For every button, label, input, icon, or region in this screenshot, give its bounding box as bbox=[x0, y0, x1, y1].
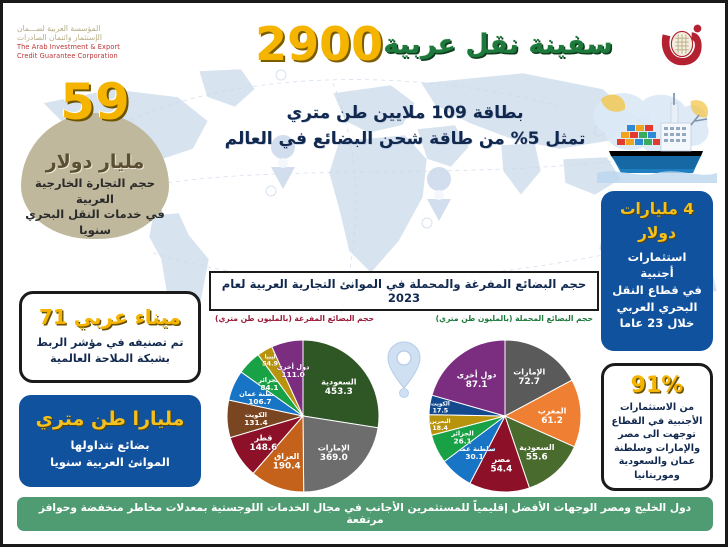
corporate-logo: المؤسسة العربية لضـــمان الإستثمار وائتم… bbox=[17, 25, 167, 60]
card-ports-desc-2: بشبكة الملاحة العالمية bbox=[22, 351, 198, 367]
chart-panel: حجم البضائع المفرغة والمحملة في الموانئ … bbox=[209, 271, 599, 493]
svg-text:111.0: 111.0 bbox=[281, 370, 304, 379]
card-fdi-desc-4: البحري العربي bbox=[607, 299, 707, 316]
svg-text:الإمارات: الإمارات bbox=[318, 444, 350, 453]
headline-subline: بطاقة 109 ملايين طن متري تمثل 5% من طاقة… bbox=[205, 101, 605, 152]
card-pct-desc-6: وموريتانيا bbox=[609, 469, 705, 483]
infographic-root: المؤسسة العربية لضـــمان الإستثمار وائتم… bbox=[0, 0, 728, 547]
card-investment-share: 91% من الاستثمارات الأجنبية في القطاع تو… bbox=[601, 363, 713, 491]
corp-name-ar-2: الإستثمار وائتمان الصادرات bbox=[17, 34, 167, 43]
card-fdi-title-2: دولار bbox=[607, 224, 707, 243]
corp-name-en-1: The Arab Investment & Export bbox=[17, 44, 167, 52]
card-pct-title: 91% bbox=[609, 373, 705, 398]
svg-text:61.2: 61.2 bbox=[541, 416, 563, 426]
pie-chart-discharged: الإمارات72.7المغرب61.2السعودية55.6مصر54.… bbox=[415, 326, 595, 504]
pie-slice-label: البحرين18.4 bbox=[430, 419, 451, 432]
container-ship-icon bbox=[591, 85, 721, 193]
svg-text:السعودية: السعودية bbox=[321, 377, 357, 386]
svg-text:190.4: 190.4 bbox=[273, 462, 301, 472]
corp-name-en-2: Credit Guarantee Corporation bbox=[17, 53, 167, 61]
chart-subtitle-loaded: حجم البضائع المحملة (بالمليون طن متري) bbox=[436, 314, 593, 323]
card-ports-desc-1: تم تصنيفه في مؤشر الربط bbox=[22, 335, 198, 351]
svg-text:دول أخرى: دول أخرى bbox=[457, 369, 497, 379]
pie-charts-area: السعودية453.3الإمارات369.0العراق190.4قطر… bbox=[209, 324, 599, 506]
card-tons-desc-2: الموانئ العربية سنويا bbox=[19, 454, 201, 471]
svg-text:26.1: 26.1 bbox=[453, 437, 471, 446]
card-fdi-title-1: 4 مليارات bbox=[607, 200, 707, 219]
chart-title: حجم البضائع المفرغة والمحملة في الموانئ … bbox=[209, 271, 599, 311]
pie-slice-label: الجزائر26.1 bbox=[450, 429, 473, 445]
svg-text:55.6: 55.6 bbox=[526, 452, 548, 462]
card-ports-number: 71 bbox=[39, 305, 67, 329]
svg-text:العراق: العراق bbox=[274, 452, 299, 461]
subline-2: تمثل 5% من طاقة شحن البضائع في العالم bbox=[205, 127, 605, 153]
card-fdi-desc-2: أجنبية bbox=[607, 265, 707, 282]
svg-text:17.5: 17.5 bbox=[432, 407, 448, 415]
chart-subtitles: حجم البضائع المحملة (بالمليون طن متري) ح… bbox=[209, 311, 599, 324]
card-ports-title: ميناء عربي 71 bbox=[22, 305, 198, 329]
svg-text:السعودية: السعودية bbox=[519, 443, 555, 452]
svg-text:106.7: 106.7 bbox=[248, 397, 271, 406]
card-fdi-desc-3: في قطاع النقل bbox=[607, 282, 707, 299]
svg-text:الإمارات: الإمارات bbox=[513, 368, 545, 377]
stat-trade-unit: مليار دولار bbox=[21, 151, 169, 173]
svg-text:148.6: 148.6 bbox=[249, 443, 277, 453]
pie-slice-label: الكويت131.4 bbox=[244, 411, 267, 427]
svg-text:قطر: قطر bbox=[253, 433, 272, 442]
chart-subtitle-discharged: حجم البضائع المفرغة (بالمليون طن متري) bbox=[215, 314, 374, 323]
location-pin-icon bbox=[387, 340, 421, 398]
card-pct-desc-1: من الاستثمارات bbox=[609, 401, 705, 415]
bottom-banner-text: دول الخليج ومصر الوجهات الأفضل إقليمياً … bbox=[17, 502, 713, 526]
card-cargo-tons: مليارا طن متري بضائع تتداولها الموانئ ال… bbox=[19, 395, 201, 487]
headline: سفينة نقل عربية2900 bbox=[215, 17, 645, 71]
card-pct-desc-5: عمان والسعودية bbox=[609, 455, 705, 469]
card-arab-ports: ميناء عربي 71 تم تصنيفه في مؤشر الربط بش… bbox=[19, 291, 201, 383]
headline-text: سفينة نقل عربية bbox=[383, 29, 613, 60]
card-pct-desc-4: والإمارات وسلطنة bbox=[609, 442, 705, 456]
svg-text:84.1: 84.1 bbox=[260, 383, 278, 392]
svg-text:87.1: 87.1 bbox=[466, 380, 488, 390]
svg-text:131.4: 131.4 bbox=[244, 418, 267, 427]
card-fdi-desc-5: خلال 23 عاما bbox=[607, 315, 707, 332]
card-pct-desc-2: الأجنبية في القطاع bbox=[609, 415, 705, 429]
svg-text:18.4: 18.4 bbox=[432, 424, 448, 432]
dhad-logo-icon bbox=[653, 15, 711, 73]
card-pct-desc-3: توجهت الى مصر bbox=[609, 428, 705, 442]
card-foreign-investment: 4 مليارات دولار استثمارات أجنبية في قطاع… bbox=[601, 191, 713, 351]
stat-trade-value: 59 bbox=[21, 73, 169, 131]
pie-chart-loaded: السعودية453.3الإمارات369.0العراق190.4قطر… bbox=[213, 326, 393, 504]
pie-slice-label: الكويت17.5 bbox=[431, 400, 450, 414]
subline-1: بطاقة 109 ملايين طن متري bbox=[205, 101, 605, 127]
card-fdi-desc-1: استثمارات bbox=[607, 249, 707, 266]
stat-trade-desc-2: في خدمات النقل البحري سنويا bbox=[21, 207, 169, 238]
svg-text:مصر: مصر bbox=[491, 455, 510, 464]
pie-slice-label: السعودية453.3 bbox=[321, 377, 357, 397]
card-tons-desc-1: بضائع تتداولها bbox=[19, 437, 201, 454]
svg-text:453.3: 453.3 bbox=[325, 387, 353, 397]
svg-text:369.0: 369.0 bbox=[320, 453, 348, 463]
pie-slice-label: مصر54.4 bbox=[491, 455, 513, 475]
card-tons-title: مليارا طن متري bbox=[19, 408, 201, 430]
pie-slice-label: المغرب61.2 bbox=[538, 406, 567, 426]
stat-trade-desc-1: حجم التجارة الخارجية العربية bbox=[21, 176, 169, 207]
svg-text:المغرب: المغرب bbox=[538, 406, 567, 415]
pie-slice-label: العراق190.4 bbox=[273, 452, 301, 472]
svg-text:72.7: 72.7 bbox=[518, 377, 540, 387]
svg-text:30.1: 30.1 bbox=[465, 452, 483, 461]
headline-number: 2900 bbox=[255, 17, 383, 71]
svg-text:54.4: 54.4 bbox=[491, 464, 513, 474]
pie-slice-label: الإمارات369.0 bbox=[318, 444, 350, 463]
stat-trade-volume: 59 مليار دولار حجم التجارة الخارجية العر… bbox=[21, 113, 169, 239]
card-ports-unit: ميناء عربي bbox=[74, 305, 181, 329]
bottom-banner: دول الخليج ومصر الوجهات الأفضل إقليمياً … bbox=[17, 497, 713, 531]
